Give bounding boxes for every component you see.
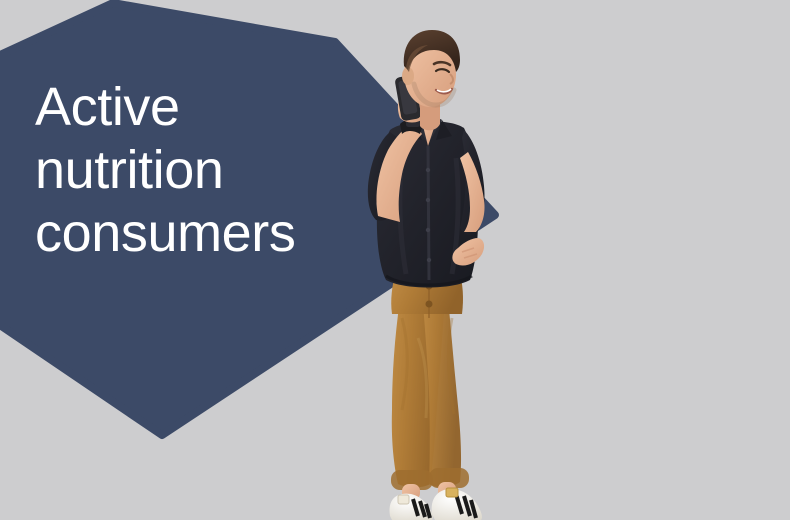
page-title: Active nutrition consumers <box>35 76 375 266</box>
hero-banner: Active nutrition consumers <box>0 0 790 520</box>
sneaker-left <box>390 494 433 520</box>
pants <box>391 270 469 490</box>
head <box>402 30 460 107</box>
sneaker-right <box>432 488 482 520</box>
man-on-phone-photo <box>330 18 560 520</box>
